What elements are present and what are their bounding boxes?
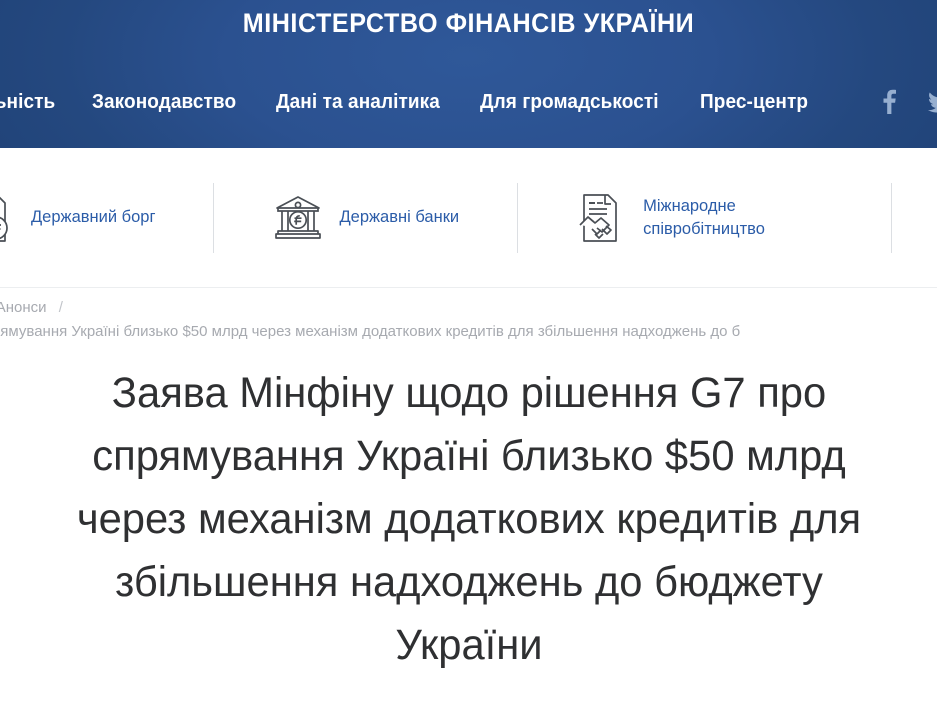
site-header: МІНІСТЕРСТВО ФІНАНСІВ УКРАЇНИ іяльність … [0, 0, 937, 148]
breadcrumb-parent-link[interactable]: и та Анонси [0, 299, 47, 316]
nav-item-dlya-hromadskosti[interactable]: Для громадськості [480, 91, 659, 114]
facebook-icon[interactable] [874, 87, 904, 117]
quicklink-label-state-debt: Державний борг [31, 206, 155, 228]
quicklink-label-state-banks: Державні банки [339, 206, 459, 228]
quicklink-label-international-cooperation: Міжнародне співробітництво [643, 195, 833, 239]
breadcrumb-current: о спрямування Україні близько $50 млрд ч… [0, 321, 937, 343]
quicklink-state-banks[interactable]: Державні банки [272, 192, 459, 244]
nav-item-pres-tsentr[interactable]: Прес-центр [700, 91, 808, 114]
document-hryvnia-icon [0, 192, 16, 244]
quicklink-divider-3 [891, 183, 892, 253]
quicklink-state-debt[interactable]: Державний борг [0, 192, 155, 244]
site-title: МІНІСТЕРСТВО ФІНАНСІВ УКРАЇНИ [33, 8, 904, 39]
article-title: Заява Мінфіну щодо рішення G7 про спряму… [42, 362, 896, 677]
nav-item-dani-ta-analityka[interactable]: Дані та аналітика [276, 91, 440, 114]
main-navigation: іяльність Законодавство Дані та аналітик… [0, 87, 937, 117]
nav-item-diyalnist[interactable]: іяльність [0, 91, 55, 114]
handshake-document-icon [576, 192, 628, 244]
quicklinks-bar: Державний борг Державні банки [0, 148, 937, 288]
breadcrumb-separator: / [51, 299, 71, 316]
bank-hryvnia-icon [272, 192, 324, 244]
quicklink-divider-2 [517, 183, 518, 253]
article: Заява Мінфіну щодо рішення G7 про спряму… [0, 350, 937, 677]
social-links [852, 87, 937, 117]
nav-item-zakonodavstvo[interactable]: Законодавство [92, 91, 236, 114]
twitter-icon[interactable] [926, 87, 937, 117]
quicklink-divider-1 [213, 183, 214, 253]
breadcrumb: и та Анонси / о спрямування Україні близ… [0, 288, 937, 350]
quicklink-international-cooperation[interactable]: Міжнародне співробітництво [576, 192, 833, 244]
